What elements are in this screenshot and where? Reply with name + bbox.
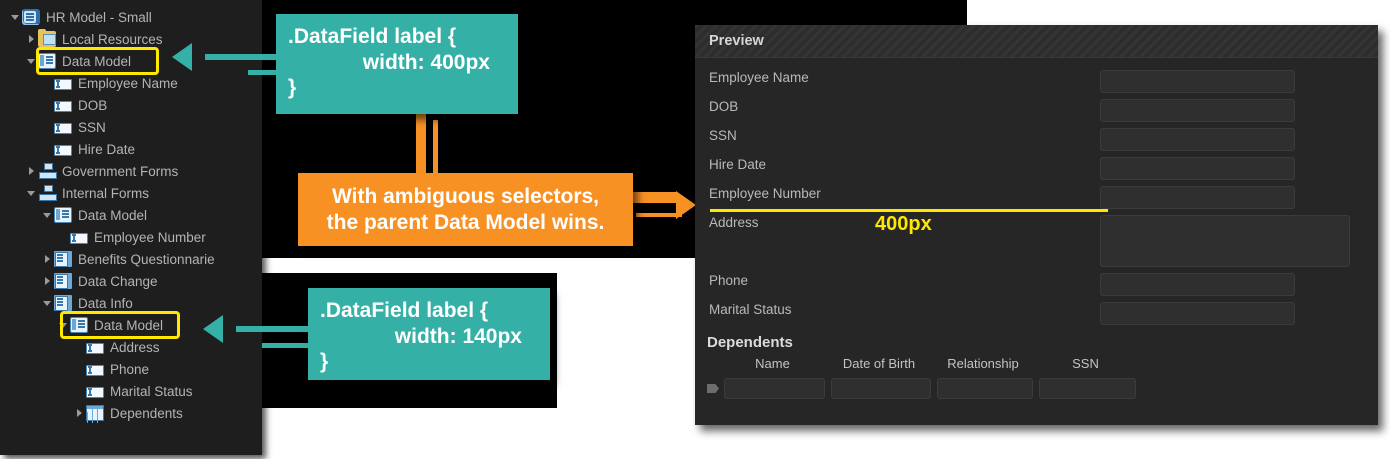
tree-item-label: Dependents — [110, 406, 183, 421]
callout-400-line3: } — [288, 75, 506, 101]
form-page-icon — [54, 295, 72, 311]
tree-item-label: DOB — [78, 98, 107, 113]
arrow-teal-bottom — [203, 315, 223, 343]
chevron-down-icon[interactable] — [40, 204, 54, 226]
tree-item-employee-name[interactable]: Employee Name — [0, 72, 262, 94]
form-row: Hire Date — [695, 157, 1378, 186]
folder-icon — [38, 31, 56, 47]
connector-vertical-orange — [416, 113, 426, 175]
connector-stub-teal-bottom — [262, 343, 314, 348]
chevron-right-icon[interactable] — [40, 270, 54, 292]
tree-item-label: Data Change — [78, 274, 158, 289]
measure-label-400px: 400px — [875, 213, 932, 236]
field-input[interactable] — [1100, 186, 1295, 209]
tree-item-data-model[interactable]: Data Model — [0, 204, 262, 226]
field-label: Hire Date — [695, 157, 1100, 172]
dependents-row[interactable] — [695, 378, 1378, 399]
dependents-column-headers: NameDate of BirthRelationshipSSN — [695, 356, 1378, 371]
twisty-spacer — [72, 358, 86, 380]
twisty-spacer — [56, 226, 70, 248]
data-model-icon — [38, 53, 56, 69]
tree-item-internal-forms[interactable]: Internal Forms — [0, 182, 262, 204]
form-row: DOB — [695, 99, 1378, 128]
field-input[interactable] — [1100, 273, 1295, 296]
connector-line-teal-bottom — [236, 326, 314, 332]
chevron-right-icon[interactable] — [72, 402, 86, 424]
twisty-spacer — [72, 336, 86, 358]
tree-item-hr-model-small[interactable]: HR Model - Small — [0, 6, 262, 28]
connector-line-teal-top — [205, 54, 280, 60]
tree-item-benefits-questionnarie[interactable]: Benefits Questionnarie — [0, 248, 262, 270]
preview-panel[interactable]: Preview Employee NameDOBSSNHire DateEmpl… — [695, 25, 1378, 425]
tree-item-label: Hire Date — [78, 142, 135, 157]
callout-ambig-line2: the parent Data Model wins. — [308, 210, 623, 236]
text-field-icon — [86, 343, 104, 354]
field-label: Phone — [695, 273, 1100, 288]
chevron-right-icon[interactable] — [40, 248, 54, 270]
field-input[interactable] — [1100, 99, 1295, 122]
field-label: SSN — [695, 128, 1100, 143]
text-field-icon — [54, 123, 72, 134]
tree-item-label: Internal Forms — [62, 186, 149, 201]
chevron-down-icon[interactable] — [8, 6, 22, 28]
preview-field-list[interactable]: Employee NameDOBSSNHire DateEmployee Num… — [695, 70, 1378, 331]
field-label: Employee Name — [695, 70, 1100, 85]
row-selector-icon[interactable] — [707, 384, 719, 393]
chevron-down-icon[interactable] — [24, 182, 38, 204]
tree-item-data-change[interactable]: Data Change — [0, 270, 262, 292]
callout-css-140: .DataField label { width: 140px } — [308, 288, 550, 380]
tree-item-label: Employee Number — [94, 230, 206, 245]
tree-item-local-resources[interactable]: Local Resources — [0, 28, 262, 50]
twisty-spacer — [40, 138, 54, 160]
measure-rule-400px — [710, 209, 1108, 212]
dependents-column-header: Name — [719, 356, 826, 371]
model-tree-panel[interactable]: HR Model - SmallLocal ResourcesData Mode… — [0, 0, 262, 455]
chevron-down-icon[interactable] — [56, 314, 70, 336]
field-input[interactable] — [1100, 215, 1350, 267]
dependents-column-header: Date of Birth — [826, 356, 932, 371]
text-field-icon — [54, 101, 72, 112]
tree-item-label: Government Forms — [62, 164, 178, 179]
tree-item-label: Data Model — [78, 208, 147, 223]
tree-item-phone[interactable]: Phone — [0, 358, 262, 380]
data-model-icon — [54, 207, 72, 223]
chevron-down-icon[interactable] — [40, 292, 54, 314]
model-icon — [22, 9, 40, 25]
text-field-icon — [86, 387, 104, 398]
preview-form[interactable]: Employee NameDOBSSNHire DateEmployee Num… — [695, 58, 1378, 399]
dependents-column-header: SSN — [1034, 356, 1137, 371]
callout-css-400: .DataField label { width: 400px } — [276, 14, 518, 114]
twisty-spacer — [72, 380, 86, 402]
callout-400-line2: width: 400px — [288, 50, 506, 76]
field-label: DOB — [695, 99, 1100, 114]
tree-item-employee-number[interactable]: Employee Number — [0, 226, 262, 248]
form-page-icon — [54, 251, 72, 267]
text-field-icon — [86, 365, 104, 376]
tree-item-hire-date[interactable]: Hire Date — [0, 138, 262, 160]
chevron-down-icon[interactable] — [24, 50, 38, 72]
field-input[interactable] — [1100, 157, 1295, 180]
arrow-teal-top — [172, 43, 192, 71]
tree-item-label: Marital Status — [110, 384, 193, 399]
callout-140-line3: } — [320, 349, 538, 375]
dependents-section-title: Dependents — [695, 334, 1378, 351]
hierarchy-icon — [38, 185, 56, 201]
callout-ambig-line1: With ambiguous selectors, — [308, 184, 623, 210]
connector-line-orange — [631, 192, 677, 203]
dependents-cell[interactable] — [724, 378, 825, 399]
field-label: Employee Number — [695, 186, 1100, 201]
tree-item-label: Address — [110, 340, 160, 355]
dependents-cell[interactable] — [1039, 378, 1136, 399]
form-row: Address — [695, 215, 1378, 273]
tree-item-label: Employee Name — [78, 76, 178, 91]
twisty-spacer — [40, 94, 54, 116]
tree-item-data-info[interactable]: Data Info — [0, 292, 262, 314]
chevron-right-icon[interactable] — [24, 160, 38, 182]
form-row: Phone — [695, 273, 1378, 302]
tree-item-dependents[interactable]: Dependents — [0, 402, 262, 424]
tree-item-label: Benefits Questionnarie — [78, 252, 215, 267]
grid-icon — [86, 405, 104, 421]
form-row: SSN — [695, 128, 1378, 157]
text-field-icon — [70, 233, 88, 244]
screenshot-root: HR Model - SmallLocal ResourcesData Mode… — [0, 0, 1390, 459]
tree-item-label: Data Model — [62, 54, 131, 69]
field-input[interactable] — [1100, 128, 1295, 151]
tree-item-label: Local Resources — [62, 32, 163, 47]
tree-item-label: Data Model — [94, 318, 163, 333]
dependents-column-header: Relationship — [932, 356, 1034, 371]
tree-item-label: Data Info — [78, 296, 133, 311]
callout-ambiguous-selectors: With ambiguous selectors, the parent Dat… — [298, 173, 633, 246]
field-label: Marital Status — [695, 302, 1100, 317]
dependents-cell[interactable] — [937, 378, 1033, 399]
twisty-spacer — [40, 116, 54, 138]
dependents-cell[interactable] — [831, 378, 931, 399]
hierarchy-icon — [38, 163, 56, 179]
tree-item-label: Phone — [110, 362, 149, 377]
tree-item-dob[interactable]: DOB — [0, 94, 262, 116]
twisty-spacer — [40, 72, 54, 94]
callout-400-line1: .DataField label { — [288, 24, 506, 50]
form-row: Marital Status — [695, 302, 1378, 331]
callout-140-line2: width: 140px — [320, 324, 538, 350]
text-field-icon — [54, 145, 72, 156]
tree-list[interactable]: HR Model - SmallLocal ResourcesData Mode… — [0, 6, 262, 424]
callout-140-line1: .DataField label { — [320, 298, 538, 324]
arrow-orange — [676, 191, 696, 219]
tree-item-ssn[interactable]: SSN — [0, 116, 262, 138]
connector-vertical-orange-thin — [433, 120, 438, 175]
field-input[interactable] — [1100, 302, 1295, 325]
form-page-icon — [54, 273, 72, 289]
preview-title: Preview — [709, 33, 764, 49]
data-model-icon — [70, 317, 88, 333]
chevron-right-icon[interactable] — [24, 28, 38, 50]
tree-item-label: HR Model - Small — [46, 10, 152, 25]
preview-header: Preview — [695, 25, 1378, 58]
tree-item-marital-status[interactable]: Marital Status — [0, 380, 262, 402]
tree-item-label: SSN — [78, 120, 106, 135]
text-field-icon — [54, 79, 72, 90]
field-input[interactable] — [1100, 70, 1295, 93]
tree-item-government-forms[interactable]: Government Forms — [0, 160, 262, 182]
form-row: Employee Name — [695, 70, 1378, 99]
